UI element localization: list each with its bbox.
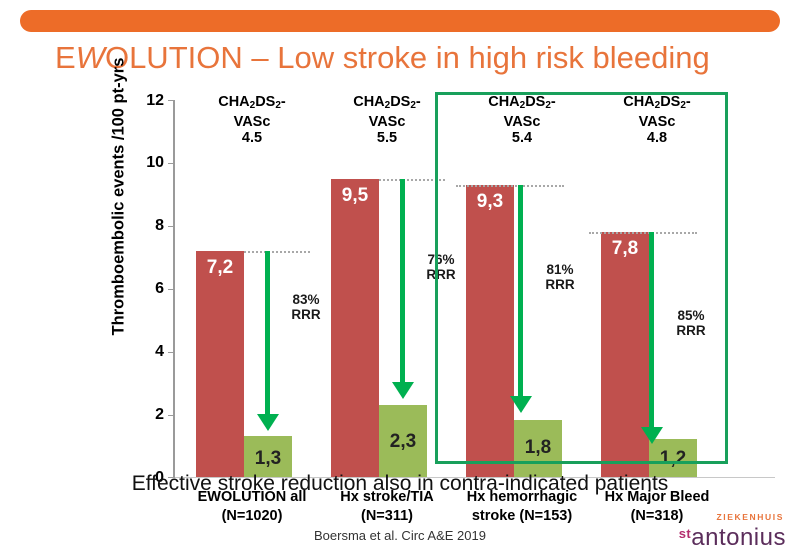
bar-value-expected: 7,2 (196, 257, 244, 279)
logo-wordmark: stantonius (679, 524, 786, 552)
logo-antonius-text: antonius (691, 524, 786, 551)
category-line2: (N=311) (361, 508, 413, 524)
rrr-arrow-head (257, 414, 279, 431)
leader-line (244, 251, 310, 253)
rrr-arrow-shaft (265, 251, 270, 416)
rrr-arrow-shaft (400, 179, 405, 384)
highlight-box-contraindicated (435, 92, 728, 464)
hdr-cha: CHA (353, 94, 384, 110)
hospital-logo: ZIEKENHUIS stantonius (626, 512, 786, 552)
title-italic-w: W (76, 40, 105, 75)
bar-value-observed: 2,3 (379, 431, 427, 453)
y-tick-10: 10 (130, 154, 164, 172)
bar-group-ewolution-all: CHA2DS2- VASc 4.5 7,2 1,3 83% RRR EWOLUT… (182, 92, 322, 484)
bar-expected: 7,2 (196, 251, 244, 477)
y-tick-4: 4 (130, 343, 164, 361)
y-tick-6: 6 (130, 280, 164, 298)
y-tick-mark-2 (168, 415, 175, 416)
y-tick-mark-6 (168, 289, 175, 290)
bar-expected: 9,5 (331, 179, 379, 477)
title-rest: OLUTION – Low stroke in high risk bleedi… (105, 40, 710, 75)
slide-caption: Effective stroke reduction also in contr… (0, 472, 800, 496)
chadsvasc-score: 5.5 (377, 130, 397, 146)
rrr-arrow-head (392, 382, 414, 399)
bar-observed: 1,3 (244, 436, 292, 477)
title-prefix: E (55, 40, 76, 75)
hdr-dash: - (281, 94, 286, 110)
hdr-cha: CHA (218, 94, 249, 110)
top-banner (20, 10, 780, 32)
y-axis-labels: 12 10 8 6 4 2 0 (124, 92, 164, 492)
hdr-vasc: VASc (234, 114, 271, 130)
category-line2: stroke (N=153) (472, 508, 572, 524)
bar-observed: 2,3 (379, 405, 427, 477)
category-line2: (N=1020) (222, 508, 283, 524)
hdr-ds: DS (255, 94, 275, 110)
hdr-ds: DS (390, 94, 410, 110)
bar-value-observed: 1,3 (244, 448, 292, 470)
rrr-value: 83% (292, 292, 319, 307)
y-tick-8: 8 (130, 217, 164, 235)
y-tick-12: 12 (130, 92, 164, 110)
y-tick-mark-4 (168, 352, 175, 353)
y-tick-mark-10 (168, 163, 175, 164)
page-title: EWOLUTION – Low stroke in high risk blee… (55, 40, 775, 76)
logo-ziekenhuis-text: ZIEKENHUIS (717, 512, 784, 522)
bar-value-expected: 9,5 (331, 185, 379, 207)
hdr-vasc: VASc (369, 114, 406, 130)
group-header-chadsvasc: CHA2DS2- VASc 4.5 (182, 94, 322, 146)
y-tick-mark-8 (168, 226, 175, 227)
hdr-dash: - (416, 94, 421, 110)
logo-st-text: st (679, 526, 692, 541)
y-tick-mark-12 (168, 100, 175, 101)
chadsvasc-score: 4.5 (242, 130, 262, 146)
y-tick-2: 2 (130, 406, 164, 424)
